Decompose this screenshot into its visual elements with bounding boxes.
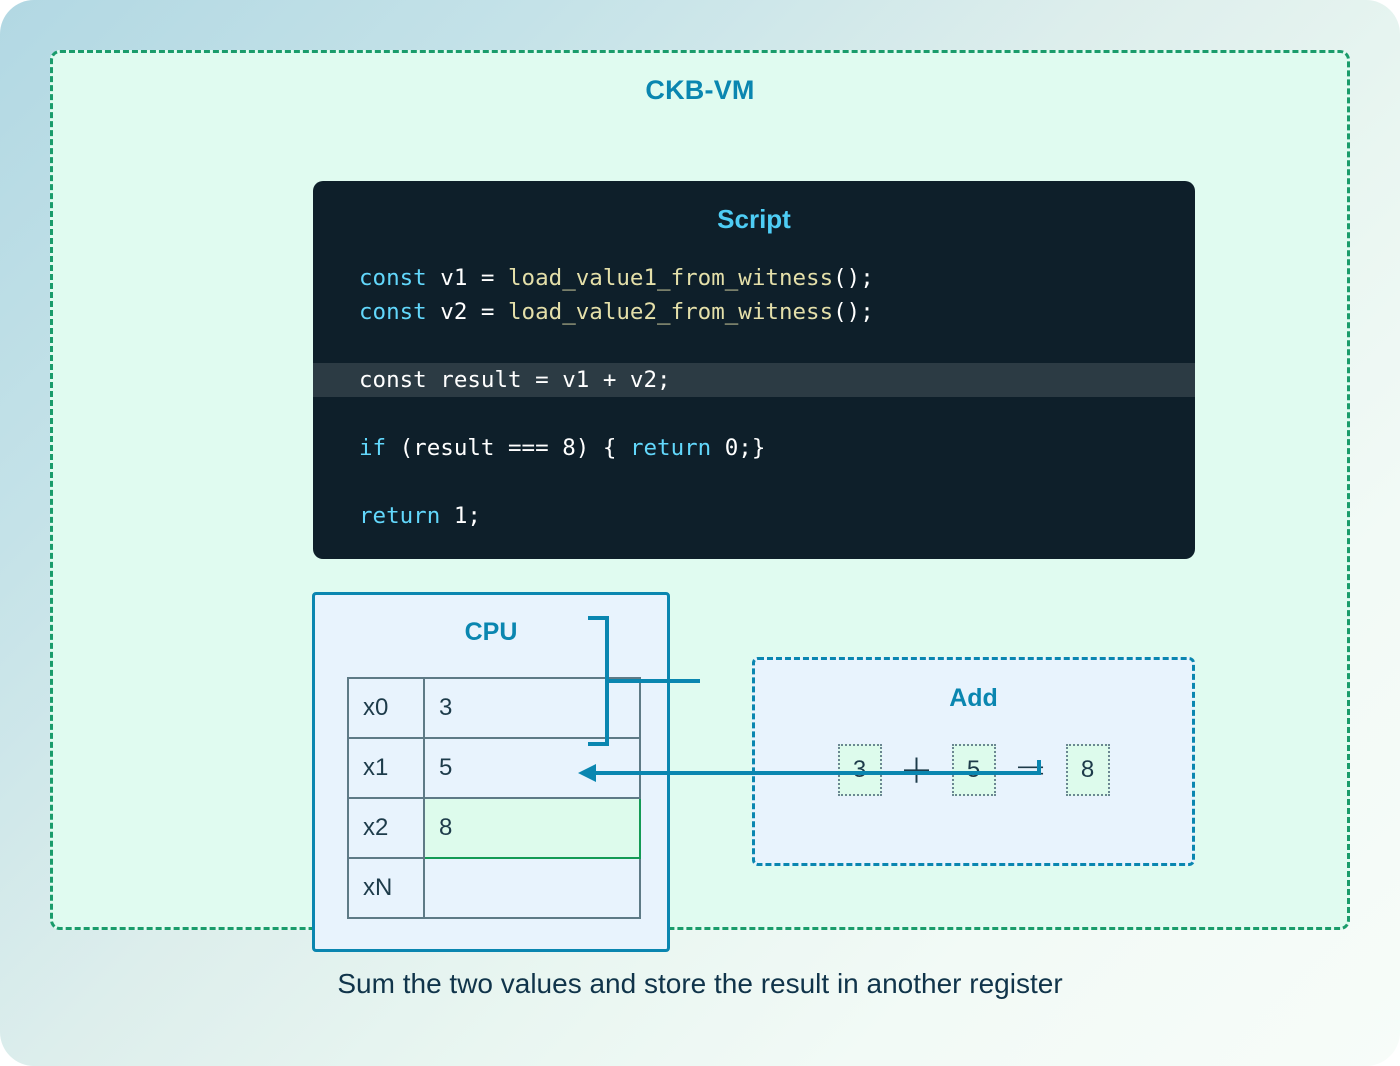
code-token: v1 = bbox=[427, 265, 508, 291]
script-title: Script bbox=[313, 204, 1195, 235]
code-token: load_value2_from_witness bbox=[508, 299, 833, 325]
code-token: (); bbox=[833, 299, 874, 325]
register-row: x28 bbox=[348, 798, 640, 858]
code-line-blank bbox=[313, 397, 1195, 431]
code-line: const v1 = load_value1_from_witness(); bbox=[313, 261, 1195, 295]
code-token: const bbox=[359, 265, 427, 291]
plus-icon: + bbox=[896, 750, 938, 790]
add-operand-b: 5 bbox=[952, 744, 996, 796]
script-panel: Script const v1 = load_value1_from_witne… bbox=[313, 181, 1195, 559]
cpu-panel: CPU x03x15x28xN bbox=[312, 592, 670, 952]
code-line: const v2 = load_value2_from_witness(); bbox=[313, 295, 1195, 329]
code-line: const result = v1 + v2; bbox=[313, 363, 1195, 397]
equals-icon: = bbox=[1010, 750, 1052, 790]
diagram-canvas: CKB-VM Script const v1 = load_value1_fro… bbox=[0, 0, 1400, 1066]
code-token: (result === 8) { bbox=[386, 435, 630, 461]
add-expression: 3 + 5 = 8 bbox=[755, 744, 1192, 796]
code-token: return bbox=[630, 435, 711, 461]
code-line-blank bbox=[313, 329, 1195, 363]
cpu-title: CPU bbox=[315, 618, 667, 647]
add-title: Add bbox=[755, 684, 1192, 713]
register-value: 8 bbox=[424, 798, 640, 858]
code-token: const result = v1 + v2; bbox=[359, 367, 671, 393]
code-line-blank bbox=[313, 465, 1195, 499]
add-result: 8 bbox=[1066, 744, 1110, 796]
register-row: xN bbox=[348, 858, 640, 918]
register-value bbox=[424, 858, 640, 918]
code-block: const v1 = load_value1_from_witness();co… bbox=[313, 261, 1195, 533]
code-token: (); bbox=[833, 265, 874, 291]
register-value: 5 bbox=[424, 738, 640, 798]
register-name: xN bbox=[348, 858, 424, 918]
register-row: x03 bbox=[348, 678, 640, 738]
code-token: load_value1_from_witness bbox=[508, 265, 833, 291]
add-panel: Add 3 + 5 = 8 bbox=[752, 657, 1195, 866]
diagram-caption: Sum the two values and store the result … bbox=[0, 968, 1400, 1000]
ckb-vm-container: CKB-VM Script const v1 = load_value1_fro… bbox=[50, 50, 1350, 930]
register-table: x03x15x28xN bbox=[347, 677, 641, 919]
code-token: const bbox=[359, 299, 427, 325]
code-line: if (result === 8) { return 0;} bbox=[313, 431, 1195, 465]
register-value: 3 bbox=[424, 678, 640, 738]
code-token: 1; bbox=[440, 503, 481, 529]
register-row: x15 bbox=[348, 738, 640, 798]
code-token: if bbox=[359, 435, 386, 461]
register-name: x1 bbox=[348, 738, 424, 798]
code-line: return 1; bbox=[313, 499, 1195, 533]
code-token: v2 = bbox=[427, 299, 508, 325]
register-name: x0 bbox=[348, 678, 424, 738]
register-name: x2 bbox=[348, 798, 424, 858]
add-operand-a: 3 bbox=[838, 744, 882, 796]
code-token: return bbox=[359, 503, 440, 529]
code-token: 0;} bbox=[711, 435, 765, 461]
ckb-vm-title: CKB-VM bbox=[53, 75, 1347, 106]
